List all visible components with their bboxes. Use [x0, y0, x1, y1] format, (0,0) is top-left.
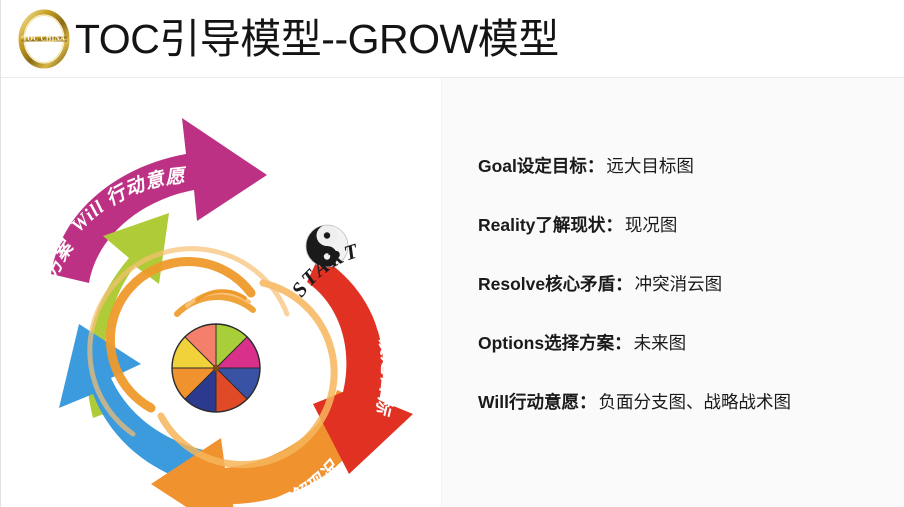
list-item-value: 负面分支图、战略战术图: [598, 392, 791, 412]
color-wheel: [172, 324, 260, 412]
list-item-value: 现况图: [625, 215, 678, 235]
list-item: Reality了解现状：现况图: [478, 215, 898, 236]
list-item-label: Resolve核心矛盾：: [478, 274, 633, 294]
list-item-value: 远大目标图: [606, 156, 694, 176]
list-item-value: 冲突消云图: [635, 274, 723, 294]
slide-canvas: TOC CHINA TOC引导模型--GROW模型: [0, 0, 904, 507]
logo-text: TOC CHINA: [23, 35, 66, 43]
list-item-label: Options选择方案：: [478, 333, 632, 353]
list-item-label: Will行动意愿：: [478, 392, 596, 412]
toc-china-oval-logo: TOC CHINA: [13, 8, 75, 70]
diagram-panel: Will 行动意愿 Options 选择方案 Resolve Conflict …: [1, 78, 441, 507]
list-item-label: Reality了解现状：: [478, 215, 623, 235]
list-item-label: Goal设定目标：: [478, 156, 604, 176]
list-item: Options选择方案：未来图: [478, 333, 898, 354]
slide-header: TOC CHINA TOC引导模型--GROW模型: [1, 0, 904, 78]
page-title: TOC引导模型--GROW模型: [75, 8, 559, 70]
content-panel: Goal设定目标：远大目标图 Reality了解现状：现况图 Resolve核心…: [441, 78, 904, 507]
list-item: Will行动意愿：负面分支图、战略战术图: [478, 392, 898, 413]
grow-cycle-diagram: Will 行动意愿 Options 选择方案 Resolve Conflict …: [1, 78, 441, 507]
list-item: Resolve核心矛盾：冲突消云图: [478, 274, 898, 295]
list-item: Goal设定目标：远大目标图: [478, 156, 898, 177]
grow-definitions-list: Goal设定目标：远大目标图 Reality了解现状：现况图 Resolve核心…: [478, 156, 898, 451]
list-item-value: 未来图: [634, 333, 687, 353]
